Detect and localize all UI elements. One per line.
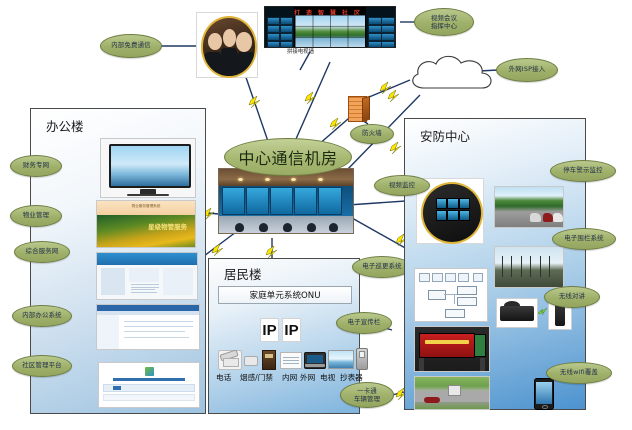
central-node-label: 中心通信机房 — [238, 145, 337, 169]
operator-photo — [196, 12, 258, 78]
panel-office-title: 办公楼 — [46, 116, 84, 135]
gate-vehicle-photo — [414, 376, 490, 410]
callout-onecard-vehicle-management[interactable]: 一卡通 车辆管理 — [340, 382, 394, 408]
device-intranet-terminal — [280, 352, 302, 369]
screenshot-tv-display — [100, 138, 196, 198]
device-label-smoke-access: 烟感/门禁 — [240, 372, 273, 383]
callout-electronic-fence-system[interactable]: 电子围栏系统 — [552, 228, 616, 250]
video-wall-left-tiles — [265, 7, 294, 47]
smartphone — [534, 378, 554, 410]
screenshot-internal-office-app — [96, 304, 200, 350]
callout-community-management-platform[interactable]: 社区管理平台 — [12, 355, 72, 377]
central-communication-room-photo — [218, 168, 354, 234]
callout-parking-warning-monitor[interactable]: 停车警示监控 — [550, 160, 616, 182]
device-door-access — [262, 350, 276, 370]
callout-finance-network[interactable]: 财务专网 — [10, 155, 62, 177]
ip-tag-extranet: IP — [282, 318, 301, 342]
device-television — [328, 350, 354, 369]
callout-wireless-wifi-coverage[interactable]: 无线wifi覆盖 — [546, 362, 612, 384]
device-label-television: 电视 — [320, 372, 335, 383]
callout-e-patrol-system[interactable]: 电子巡更系统 — [352, 256, 412, 278]
video-wall-display: 打造智慧社区 — [264, 6, 396, 48]
device-label-telephone: 电话 — [216, 372, 231, 383]
firewall-icon — [348, 96, 370, 120]
diagram-canvas: 打造智慧社区 拼接电视墙 视频会议 指挥中心 内部免费 — [0, 0, 632, 430]
callout-integrated-service-network[interactable]: 综合服务网 — [14, 241, 70, 263]
device-smoke-access — [244, 356, 258, 366]
callout-e-bulletin-board[interactable]: 电子宣传栏 — [336, 312, 392, 334]
callout-video-conference-center[interactable]: 视频会议 指挥中心 — [414, 8, 474, 36]
central-node-label-ellipse[interactable]: 中心通信机房 — [224, 138, 352, 176]
rf-bolt-icon — [536, 306, 550, 316]
callout-firewall[interactable]: 防火墙 — [350, 124, 394, 144]
callout-video-surveillance[interactable]: 视频监控 — [374, 175, 430, 196]
video-wall-right-tiles — [366, 7, 395, 47]
device-meter-reader — [356, 348, 368, 370]
panel-residential-title: 居民楼 — [224, 264, 262, 283]
callout-external-isp-access[interactable]: 外网ISP接入 — [496, 58, 558, 82]
device-label-extranet: 外网 — [300, 372, 315, 383]
screenshot-community-platform — [98, 362, 200, 408]
internet-cloud — [404, 52, 500, 98]
electronic-bulletin-photo — [414, 326, 490, 372]
screenshot-integrated-service-portal — [96, 252, 198, 300]
callout-wireless-intercom[interactable]: 无线对讲 — [544, 286, 600, 308]
panel-security-title: 安防中心 — [420, 126, 470, 145]
device-label-intranet: 内网 — [282, 372, 297, 383]
device-label-meter-reader: 抄表器 — [340, 372, 363, 383]
device-extranet-laptop — [304, 352, 326, 369]
device-telephone — [218, 350, 242, 370]
callout-internal-free-communication[interactable]: 内部免费通信 — [100, 34, 162, 58]
video-wall-main-image — [295, 15, 365, 47]
electric-fence-photo — [494, 246, 564, 288]
radio-base-station — [496, 298, 538, 328]
onu-unit[interactable]: 家庭单元系统ONU — [218, 286, 352, 304]
network-topology-thumbnail — [414, 268, 488, 322]
parking-lot-photo — [494, 186, 564, 228]
callout-property-management[interactable]: 物业管理 — [10, 205, 62, 227]
ip-tag-intranet: IP — [260, 318, 279, 342]
banner-headline: 星级物管服务 — [148, 221, 187, 231]
banner-caption: 物业服务管理系统 — [97, 204, 195, 209]
screenshot-property-service-banner: 物业服务管理系统 星级物管服务 — [96, 200, 196, 248]
callout-internal-office-system[interactable]: 内部办公系统 — [12, 305, 72, 327]
video-wall-caption: 拼接电视墙 — [287, 47, 314, 55]
